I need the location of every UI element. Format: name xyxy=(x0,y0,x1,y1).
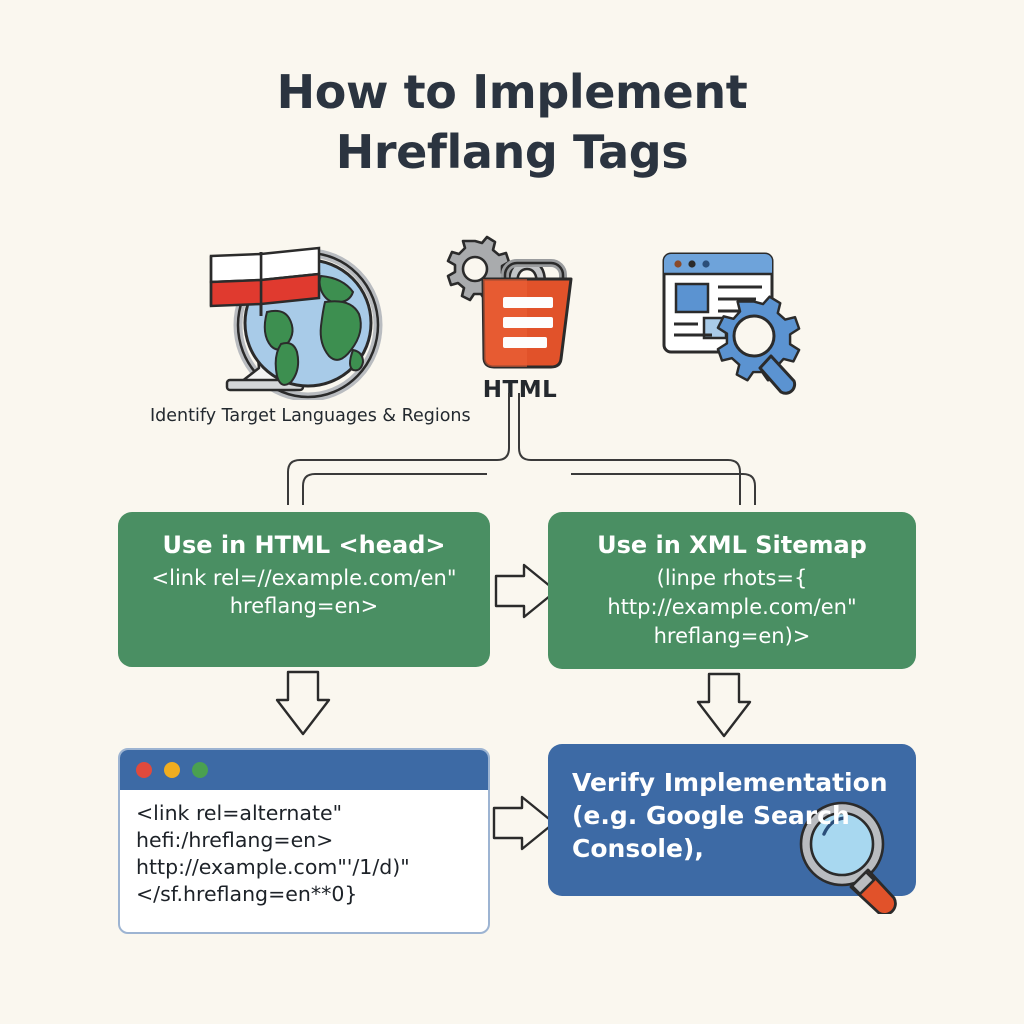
arrow-sitemap-to-verify xyxy=(698,674,750,736)
html-container-gear-icon xyxy=(445,235,595,375)
arrow-head-to-code xyxy=(277,672,329,734)
code-window-titlebar xyxy=(120,750,488,790)
step-box-verify[interactable]: Verify Implementation (e.g. Google Searc… xyxy=(548,744,916,896)
xml-sitemap-heading: Use in XML Sitemap xyxy=(564,530,900,560)
arrow-head-to-sitemap xyxy=(496,565,556,617)
xml-sitemap-code: (linpe rhots={ http://example.com/en" hr… xyxy=(564,564,900,651)
page-title: How to Implement Hreflang Tags xyxy=(0,62,1024,182)
identify-languages-block: Identify Target Languages & Regions xyxy=(150,240,440,426)
browser-audit-magnifier-icon xyxy=(650,240,835,400)
html-caption: HTML xyxy=(440,377,600,403)
html-block: HTML xyxy=(440,235,600,403)
code-window[interactable]: <link rel=alternate" hefi:/hreflang=en> … xyxy=(118,748,490,934)
html-head-heading: Use in HTML <head> xyxy=(134,530,474,560)
arrow-code-to-verify xyxy=(494,797,554,849)
step-box-html-head[interactable]: Use in HTML <head> <link rel=//example.c… xyxy=(118,512,490,667)
step-box-xml-sitemap[interactable]: Use in XML Sitemap (linpe rhots={ http:/… xyxy=(548,512,916,669)
audit-block xyxy=(645,240,840,400)
close-dot[interactable] xyxy=(136,762,152,778)
verify-heading: Verify Implementation (e.g. Google Searc… xyxy=(572,766,900,865)
globe-flags-icon xyxy=(175,240,415,400)
code-window-content: <link rel=alternate" hefi:/hreflang=en> … xyxy=(120,790,488,908)
identify-languages-caption: Identify Target Languages & Regions xyxy=(150,406,440,426)
minimize-dot[interactable] xyxy=(164,762,180,778)
maximize-dot[interactable] xyxy=(192,762,208,778)
html-head-code: <link rel=//example.com/en" hreflang=en> xyxy=(134,564,474,620)
infographic-canvas: How to Implement Hreflang Tags xyxy=(0,0,1024,1024)
